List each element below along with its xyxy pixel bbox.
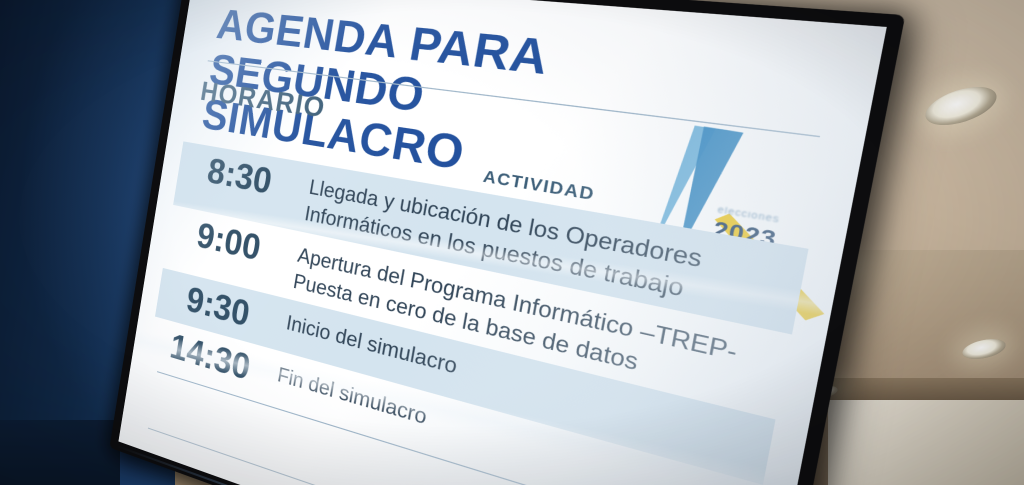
wall-mounted-tv: AGENDA PARA SEGUNDO SIMULACRO elecciones… xyxy=(109,0,905,485)
tv-screen[interactable]: AGENDA PARA SEGUNDO SIMULACRO elecciones… xyxy=(118,0,886,485)
photo-scene: AGENDA PARA SEGUNDO SIMULACRO elecciones… xyxy=(0,0,1024,485)
slide-cursor-artifact xyxy=(390,458,428,485)
tv-bezel: AGENDA PARA SEGUNDO SIMULACRO elecciones… xyxy=(109,0,905,485)
presentation-slide: AGENDA PARA SEGUNDO SIMULACRO elecciones… xyxy=(118,0,886,485)
lit-wall-panel xyxy=(828,400,1024,485)
